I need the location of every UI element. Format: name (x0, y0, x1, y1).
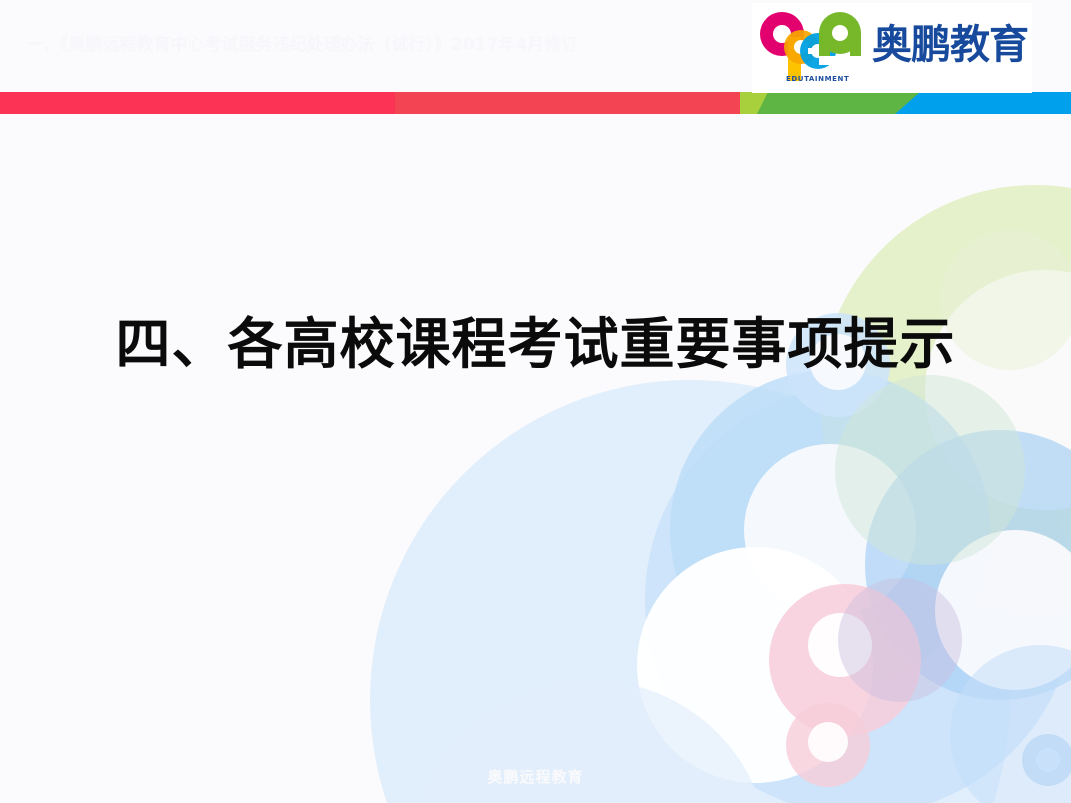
header-title: 一、《奥鹏远程教育中心考试服务违纪处理办法（试行）》2017年4月修订 (26, 34, 726, 56)
decorative-circles-background (0, 0, 1071, 803)
presentation-slide: 一、《奥鹏远程教育中心考试服务违纪处理办法（试行）》2017年4月修订 (0, 0, 1071, 803)
deco-ring-pink-hole (808, 613, 872, 677)
ribbon-segment-red-dark (395, 92, 740, 114)
deco-ring-blue-center-hole (744, 444, 916, 616)
deco-circle-blue-large (370, 380, 1010, 803)
deco-circle-blue-strong (865, 430, 1071, 700)
deco-ring-pink-small-hole (808, 722, 848, 762)
deco-overlap-green-blue (835, 375, 1025, 565)
deco-ring-pink (769, 584, 921, 736)
deco-blob-violet (838, 578, 962, 702)
deco-ring-green-upper (820, 185, 1071, 615)
footer-watermark: 奥鹏远程教育 (0, 766, 1071, 787)
deco-ring-green-upper-hole (925, 270, 1071, 510)
deco-disc-white-bottom (637, 547, 873, 783)
page-title: 四、各高校课程考试重要事项提示 (0, 309, 1071, 379)
open-logo-icon: EDUTAINMENT (752, 7, 870, 89)
logo-tagline: EDUTAINMENT (786, 75, 849, 83)
color-ribbon (0, 92, 1071, 114)
brand-logo: EDUTAINMENT 奥鹏教育 (752, 3, 1032, 93)
deco-ring-blue-mid (645, 385, 1071, 803)
deco-ring-blue-center (670, 370, 990, 690)
ribbon-segment-red (0, 92, 400, 114)
ribbon-segment-blue (895, 92, 1071, 114)
logo-brand-cn: 奥鹏教育 (872, 25, 1028, 65)
deco-circle-blue-strong-hole (935, 530, 1071, 690)
